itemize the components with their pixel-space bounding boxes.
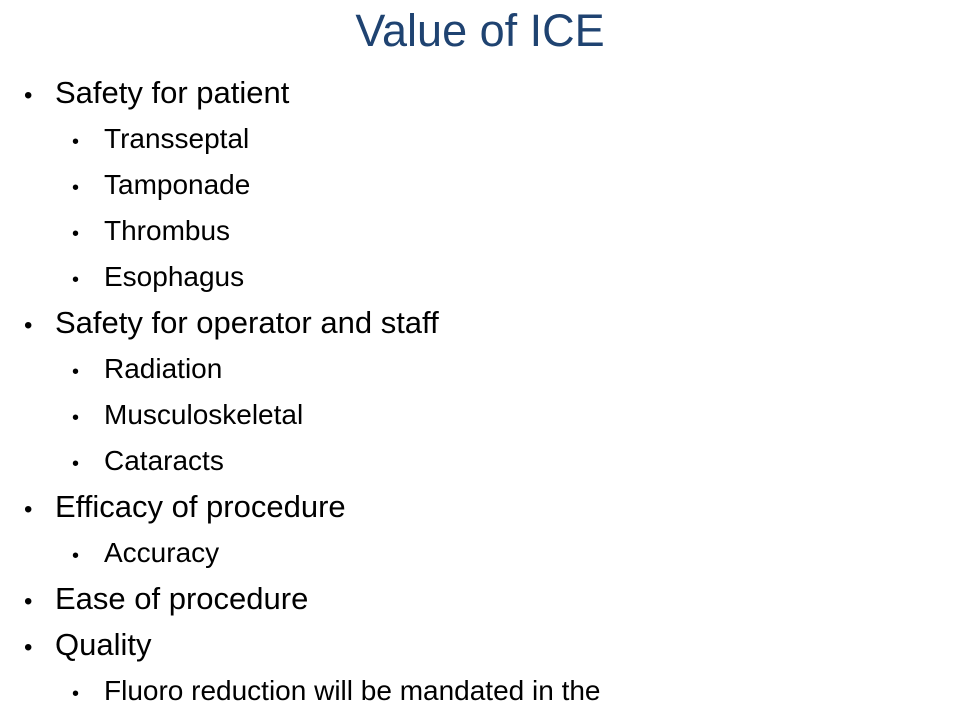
- bullet-item-label: Quality: [55, 622, 151, 668]
- bullet-item-label: Fluoro reduction will be mandated in the: [104, 668, 601, 714]
- bullet-item-level-2: •Fluoro reduction will be mandated in th…: [0, 668, 960, 714]
- bullet-marker-icon: •: [72, 671, 104, 717]
- bullet-item-label: Esophagus: [104, 254, 244, 300]
- bullet-marker-icon: •: [72, 349, 104, 395]
- bullet-item-level-1: •Ease of procedure: [0, 576, 960, 622]
- bullet-item-label: Efficacy of procedure: [55, 484, 346, 530]
- bullet-item-label: Accuracy: [104, 530, 219, 576]
- bullet-marker-icon: •: [72, 533, 104, 579]
- bullet-item-level-1: •Efficacy of procedure: [0, 484, 960, 530]
- bullet-item-level-1: •Quality: [0, 622, 960, 668]
- bullet-item-label: Safety for operator and staff: [55, 300, 439, 346]
- bullet-marker-icon: •: [24, 579, 55, 625]
- bullet-marker-icon: •: [24, 73, 55, 119]
- bullet-item-level-1: •Safety for patient: [0, 70, 960, 116]
- bullet-item-label: Safety for patient: [55, 70, 289, 116]
- bullet-marker-icon: •: [72, 395, 104, 441]
- bullet-item-label: Cataracts: [104, 438, 224, 484]
- bullet-item-level-2: •Tamponade: [0, 162, 960, 208]
- bullet-item-level-2: •Radiation: [0, 346, 960, 392]
- bullet-item-level-1: •Safety for operator and staff: [0, 300, 960, 346]
- bullet-item-label: Transseptal: [104, 116, 249, 162]
- bullet-item-level-2: •Cataracts: [0, 438, 960, 484]
- bullet-item-label: Ease of procedure: [55, 576, 308, 622]
- bullet-marker-icon: •: [72, 211, 104, 257]
- page-title: Value of ICE: [0, 2, 960, 60]
- bullet-item-label: Tamponade: [104, 162, 250, 208]
- bullet-item-level-2: •Accuracy: [0, 530, 960, 576]
- bullet-marker-icon: •: [72, 441, 104, 487]
- bullet-marker-icon: •: [72, 257, 104, 303]
- bullet-item-label: Radiation: [104, 346, 222, 392]
- bullet-item-level-2: •Musculoskeletal: [0, 392, 960, 438]
- bullet-marker-icon: •: [24, 303, 55, 349]
- bullet-marker-icon: •: [24, 625, 55, 671]
- bullet-item-label: Musculoskeletal: [104, 392, 303, 438]
- slide-canvas: Value of ICE •Safety for patient•Transse…: [0, 0, 960, 720]
- bullet-marker-icon: •: [72, 119, 104, 165]
- bullet-item-level-2: •Esophagus: [0, 254, 960, 300]
- bullet-list: •Safety for patient•Transseptal•Tamponad…: [0, 70, 960, 714]
- bullet-marker-icon: •: [72, 165, 104, 211]
- bullet-item-level-2: •Transseptal: [0, 116, 960, 162]
- bullet-item-level-2: •Thrombus: [0, 208, 960, 254]
- bullet-marker-icon: •: [24, 487, 55, 533]
- bullet-item-label: Thrombus: [104, 208, 230, 254]
